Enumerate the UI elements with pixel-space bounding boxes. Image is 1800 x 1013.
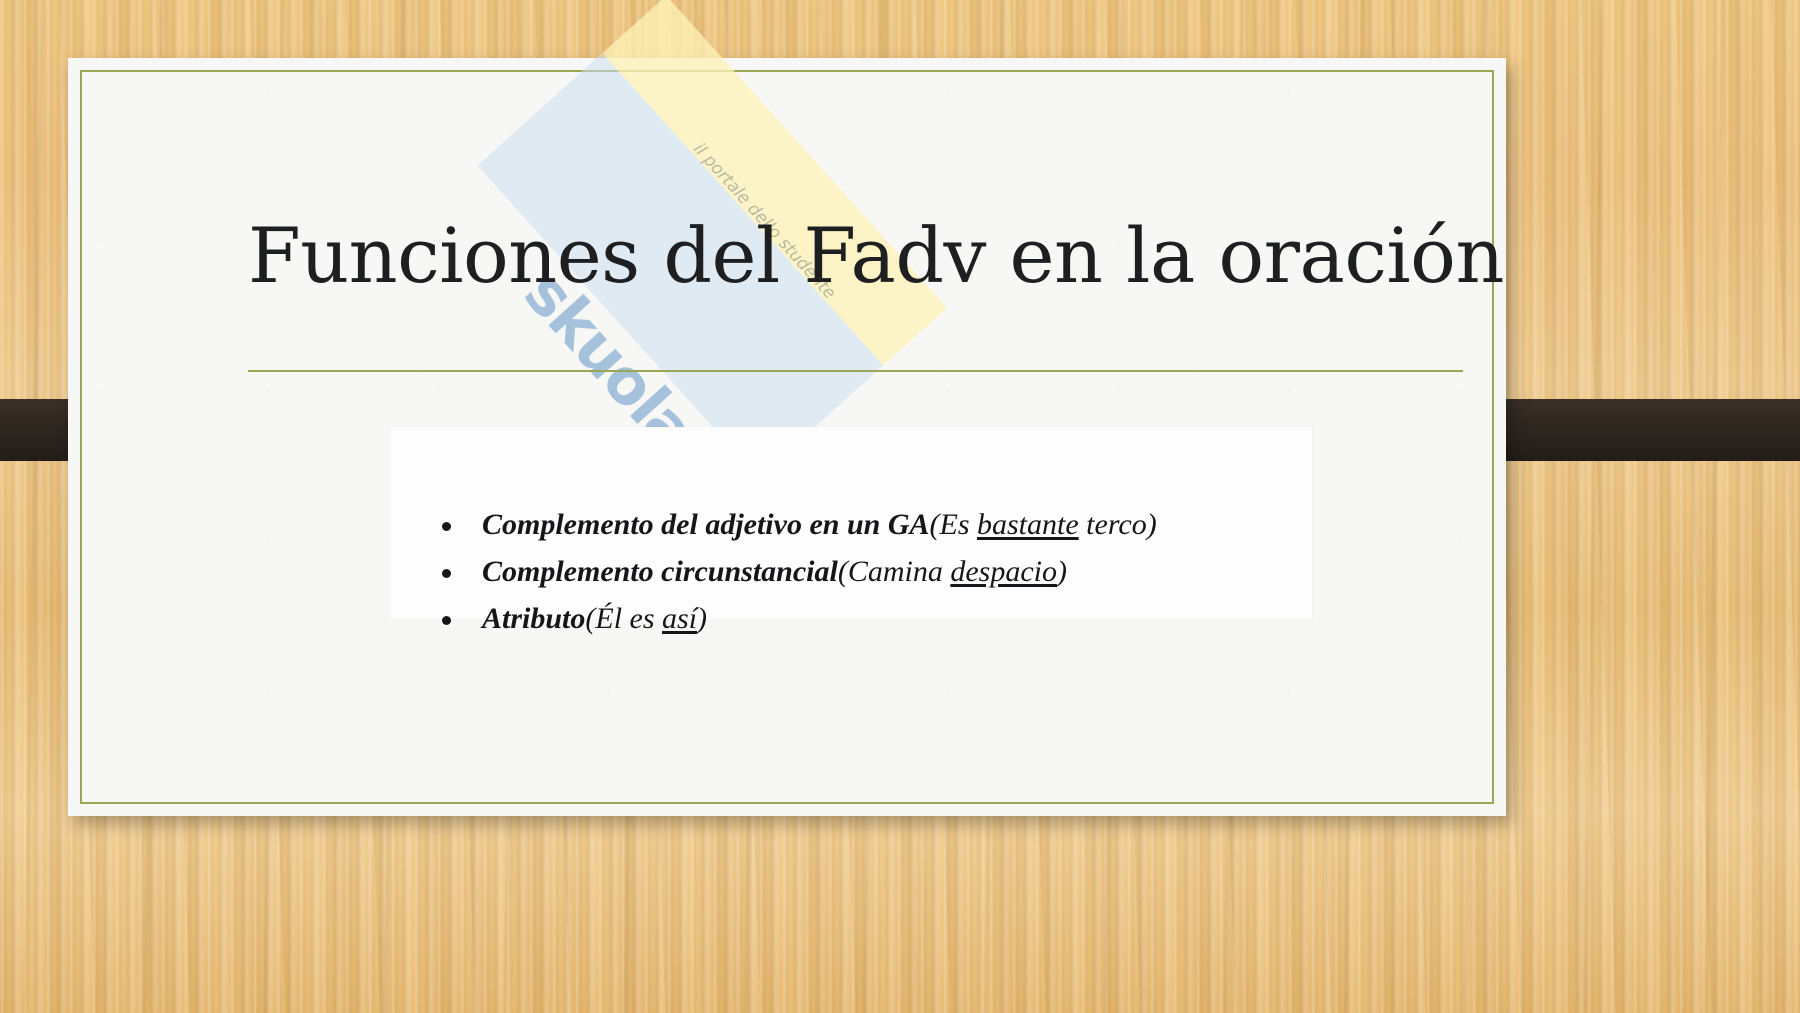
bullet-example-underlined: despacio — [950, 555, 1057, 588]
bullet-example-close: ) — [697, 602, 707, 635]
watermark-band-yellow — [602, 0, 947, 365]
clip-bar-right — [1470, 399, 1800, 461]
list-item: Complemento circunstancial(Camina despac… — [390, 552, 1312, 592]
functions-bullet-list: Complemento del adjetivo en un GA(Es bas… — [390, 427, 1312, 640]
bullet-term: Atributo — [482, 602, 585, 635]
slide-stage: skuola.net il portale dello studente Fun… — [0, 0, 1800, 1013]
slide-card: skuola.net il portale dello studente Fun… — [68, 58, 1506, 816]
bullet-term: Complemento del adjetivo en un GA — [482, 508, 930, 541]
title-divider — [248, 370, 1463, 372]
bullet-example-open: (Camina — [838, 555, 951, 588]
list-item: Atributo(Él es así) — [390, 599, 1312, 639]
bullet-term: Complemento circunstancial — [482, 555, 838, 588]
bullet-example-underlined: bastante — [977, 508, 1079, 541]
content-image-block: Complemento del adjetivo en un GA(Es bas… — [390, 427, 1312, 619]
bullet-example-close: ) — [1057, 555, 1067, 588]
bullet-example-underlined: así — [662, 602, 697, 635]
page-title: Funciones del Fadv en la oración — [248, 218, 1478, 294]
list-item: Complemento del adjetivo en un GA(Es bas… — [390, 505, 1312, 545]
bullet-example-open: (Él es — [585, 602, 662, 635]
bullet-example-open: (Es — [930, 508, 978, 541]
bullet-example-close: terco) — [1079, 508, 1157, 541]
